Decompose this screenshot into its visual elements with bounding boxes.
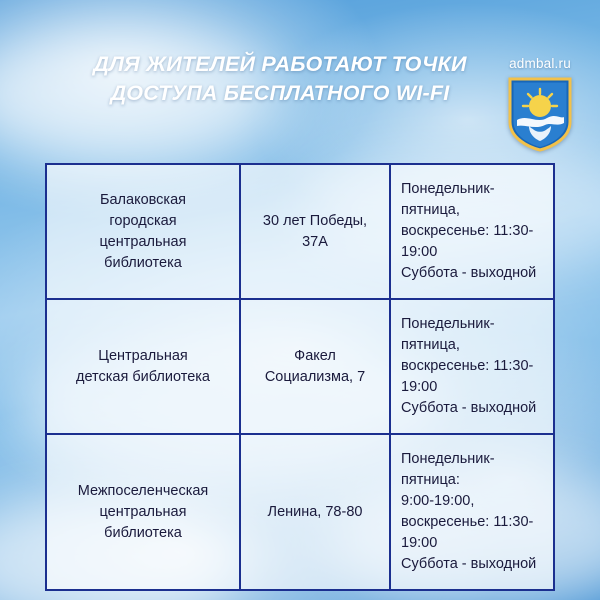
- address-line: 37А: [251, 232, 379, 253]
- hours-line: Понедельник-пятница:: [401, 449, 543, 491]
- cell-library-name: Межпоселенческая центральная библиотека: [46, 434, 240, 590]
- name-line: Балаковская: [57, 190, 229, 211]
- cell-library-name: Центральная детская библиотека: [46, 299, 240, 434]
- name-line: Центральная: [57, 346, 229, 367]
- address-line: Ленина, 78-80: [251, 502, 379, 523]
- site-url-label: admbal.ru: [494, 56, 586, 71]
- address-line: 30 лет Победы,: [251, 211, 379, 232]
- cell-address: 30 лет Победы, 37А: [240, 164, 390, 299]
- cell-hours: Понедельник-пятница, воскресенье: 11:30-…: [390, 299, 554, 434]
- hours-line: Суббота - выходной: [401, 263, 543, 284]
- name-line: центральная: [57, 502, 229, 523]
- cell-hours: Понедельник-пятница, воскресенье: 11:30-…: [390, 164, 554, 299]
- wifi-locations-table: Балаковская городская центральная библио…: [45, 163, 555, 591]
- address-line: Факел: [251, 346, 379, 367]
- cell-address: Ленина, 78-80: [240, 434, 390, 590]
- coat-of-arms-balakovo-icon: [507, 76, 573, 152]
- brand-block: admbal.ru: [494, 56, 586, 152]
- address-line: Социализма, 7: [251, 367, 379, 388]
- hours-line: Понедельник-пятница,: [401, 179, 543, 221]
- cell-hours: Понедельник-пятница: 9:00-19:00, воскрес…: [390, 434, 554, 590]
- hours-line: воскресенье: 11:30-19:00: [401, 221, 543, 263]
- hours-line: Суббота - выходной: [401, 398, 543, 419]
- headline-line-1: ДЛЯ ЖИТЕЛЕЙ РАБОТАЮТ ТОЧКИ: [60, 50, 500, 79]
- poster-canvas: ДЛЯ ЖИТЕЛЕЙ РАБОТАЮТ ТОЧКИ ДОСТУПА БЕСПЛ…: [0, 0, 600, 600]
- headline-line-2: ДОСТУПА БЕСПЛАТНОГО WI-FI: [60, 79, 500, 108]
- name-line: городская: [57, 211, 229, 232]
- hours-line: Понедельник-пятница,: [401, 314, 543, 356]
- hours-line: 9:00-19:00,: [401, 491, 543, 512]
- name-line: библиотека: [57, 523, 229, 544]
- table-row: Центральная детская библиотека Факел Соц…: [46, 299, 554, 434]
- poster-headline: ДЛЯ ЖИТЕЛЕЙ РАБОТАЮТ ТОЧКИ ДОСТУПА БЕСПЛ…: [60, 50, 500, 108]
- cell-library-name: Балаковская городская центральная библио…: [46, 164, 240, 299]
- table-row: Балаковская городская центральная библио…: [46, 164, 554, 299]
- name-line: детская библиотека: [57, 367, 229, 388]
- cell-address: Факел Социализма, 7: [240, 299, 390, 434]
- name-line: Межпоселенческая: [57, 481, 229, 502]
- hours-line: Суббота - выходной: [401, 554, 543, 575]
- name-line: библиотека: [57, 253, 229, 274]
- hours-line: воскресенье: 11:30-19:00: [401, 356, 543, 398]
- hours-line: воскресенье: 11:30-19:00: [401, 512, 543, 554]
- name-line: центральная: [57, 232, 229, 253]
- table-row: Межпоселенческая центральная библиотека …: [46, 434, 554, 590]
